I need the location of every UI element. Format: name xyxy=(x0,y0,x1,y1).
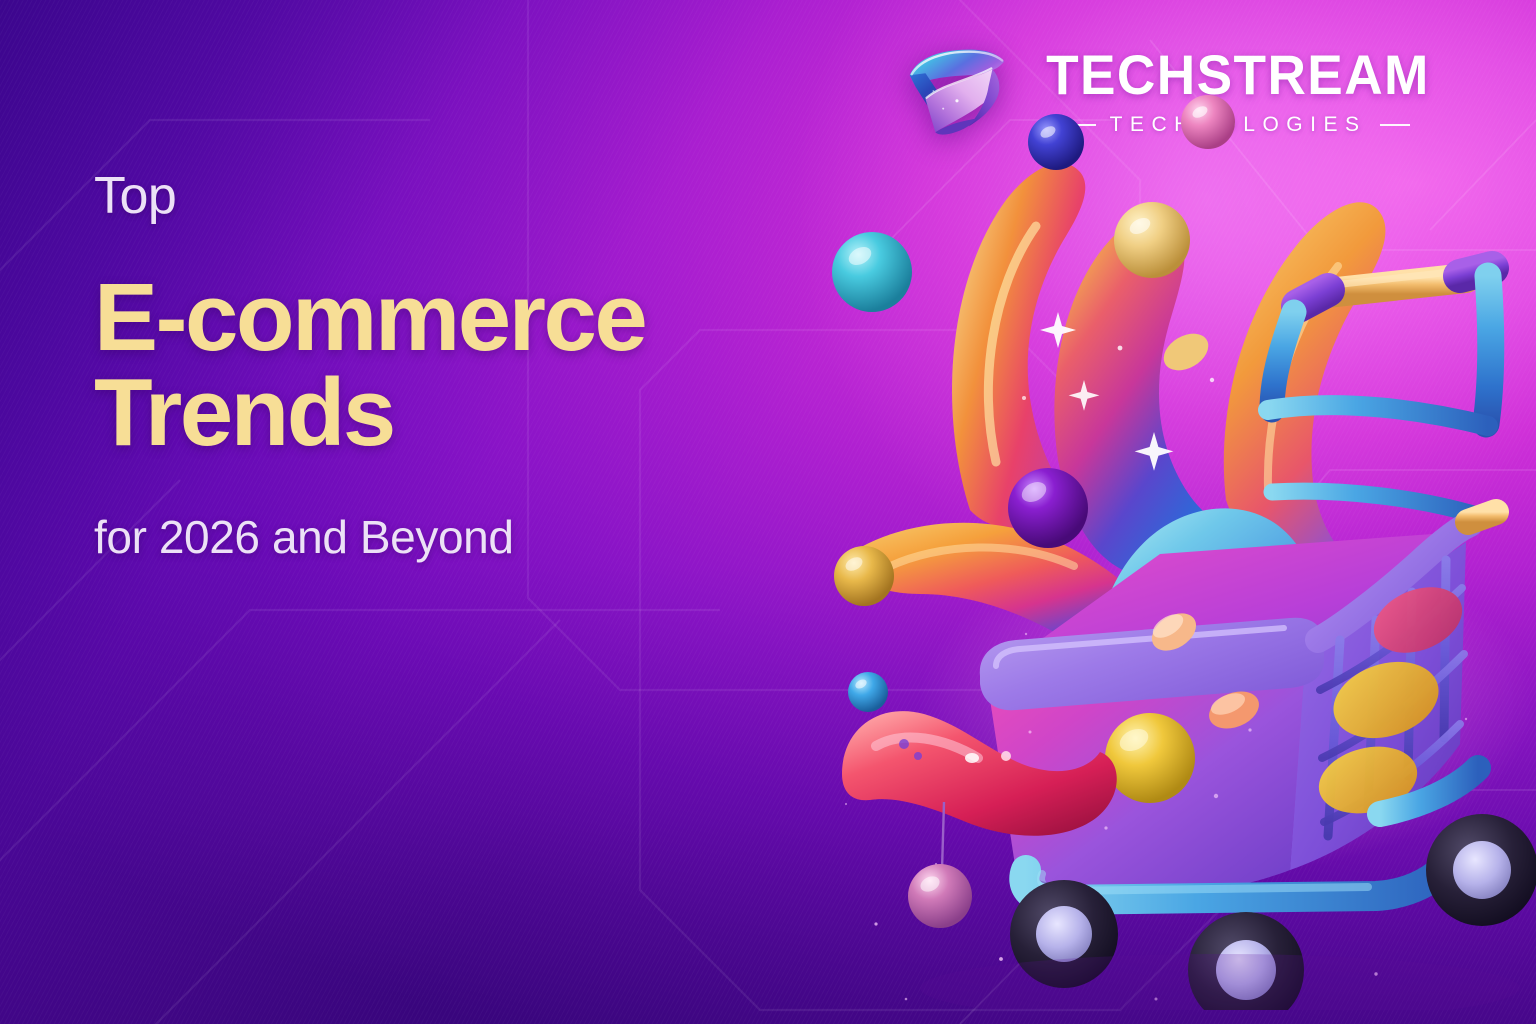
logo-dash-left-icon xyxy=(1066,124,1096,126)
eyebrow-text: Top xyxy=(94,170,854,222)
marketing-banner: Top E-commerce Trends for 2026 and Beyon… xyxy=(0,0,1536,1024)
logo-wordmark: TECHSTREAM TECHNOLOGIES xyxy=(1036,43,1440,135)
logo-company-name: TECHSTREAM xyxy=(1046,47,1430,103)
logo-tagline-row: TECHNOLOGIES xyxy=(1066,114,1411,135)
logo-tagline: TECHNOLOGIES xyxy=(1110,114,1367,135)
techstream-ribbon-triangle-logo-icon xyxy=(896,30,1014,148)
brand-logo[interactable]: TECHSTREAM TECHNOLOGIES xyxy=(896,30,1440,148)
subtitle-text: for 2026 and Beyond xyxy=(94,514,854,560)
headline-copy-block: Top E-commerce Trends for 2026 and Beyon… xyxy=(94,170,854,560)
page-title: E-commerce Trends xyxy=(94,270,854,460)
logo-dash-right-icon xyxy=(1380,124,1410,126)
